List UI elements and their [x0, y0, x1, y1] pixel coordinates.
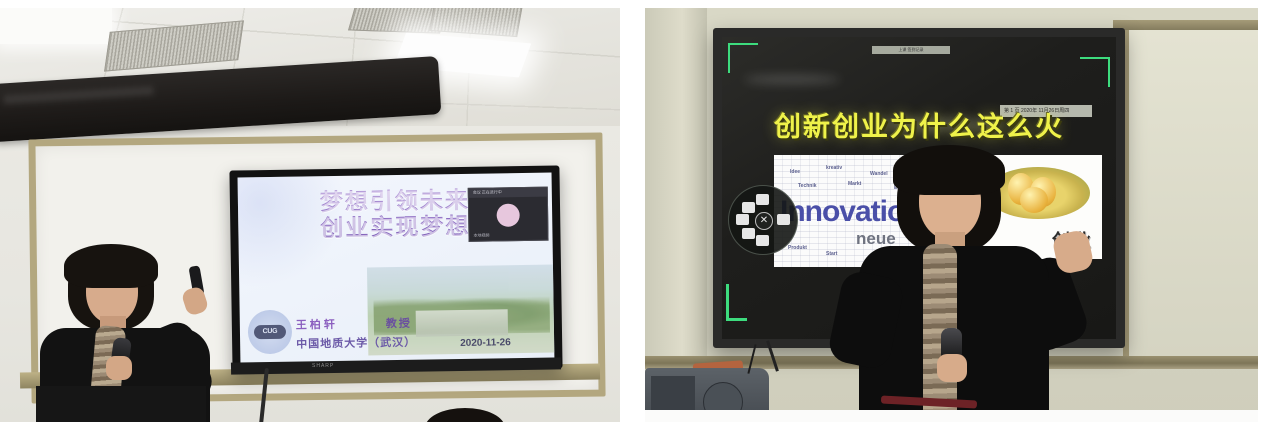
display-status-bar: 上课 签到记录: [872, 46, 950, 54]
slide-screen-left: 会议 正在进行中 本地视频 梦想引领未来 创业实现梦想 CUG 王柏轩 教授 中…: [238, 173, 555, 364]
wordcloud-word: Idee: [790, 169, 800, 175]
slide-speaker-name: 王柏轩: [296, 316, 338, 333]
screen-icon[interactable]: [756, 235, 769, 246]
podium: [36, 386, 206, 422]
figure-container: 会议 正在进行中 本地视频 梦想引领未来 创业实现梦想 CUG 王柏轩 教授 中…: [0, 0, 1269, 430]
apps-icon[interactable]: [777, 214, 790, 225]
slide-speaker-title: 教授: [386, 315, 412, 331]
wordcloud-word: kreativ: [826, 165, 842, 171]
classroom-photo-right: 上课 签到记录 第 1 页 2020年 11月26日周四 创新创业为什么这么火 …: [645, 8, 1258, 422]
whiteboard-right: [1123, 30, 1258, 360]
display-brand-mark: SHARP: [312, 363, 334, 369]
slide-organization: 中国地质大学（武汉）: [296, 334, 416, 352]
calibration-marker-icon: [1080, 57, 1110, 87]
photo-bottom-edge: [645, 410, 1258, 422]
flat-panel-display-left[interactable]: 会议 正在进行中 本地视频 梦想引领未来 创业实现梦想 CUG 王柏轩 教授 中…: [229, 165, 562, 373]
wordcloud-word: Start: [826, 251, 837, 257]
university-crest: CUG: [248, 310, 293, 355]
presenter-right: [841, 148, 1091, 422]
wordcloud-word: Produkt: [788, 245, 807, 251]
classroom-photo-left: 会议 正在进行中 本地视频 梦想引领未来 创业实现梦想 CUG 王柏轩 教授 中…: [0, 8, 620, 422]
screen-glare: [744, 75, 840, 84]
slide-title-right: 创新创业为什么这么火: [722, 105, 1116, 144]
presenter-hair-front: [64, 244, 158, 288]
whiteboard-icon[interactable]: [742, 202, 755, 213]
slide-title-line2: 创业实现梦想: [238, 212, 552, 243]
close-icon[interactable]: ✕: [755, 212, 773, 230]
presenter-hand-upper: [181, 285, 210, 317]
slide-title-left: 梦想引领未来 创业实现梦想: [238, 187, 553, 243]
wordcloud-word: Technik: [798, 183, 817, 189]
crest-text: CUG: [254, 325, 286, 340]
presenter-hand-lower: [106, 356, 132, 380]
ceiling-window-light: [0, 8, 112, 44]
calibration-marker-icon: [728, 43, 758, 73]
presenter-left-hand: [937, 354, 967, 382]
presenter-hair-front: [893, 145, 1005, 195]
laptop-icon[interactable]: [742, 228, 755, 239]
slide-date: 2020-11-26: [460, 337, 511, 349]
home-icon[interactable]: [756, 194, 769, 205]
annotate-icon[interactable]: [736, 214, 749, 225]
calibration-marker-icon: [726, 284, 747, 321]
radial-quick-menu[interactable]: ✕: [728, 185, 798, 255]
